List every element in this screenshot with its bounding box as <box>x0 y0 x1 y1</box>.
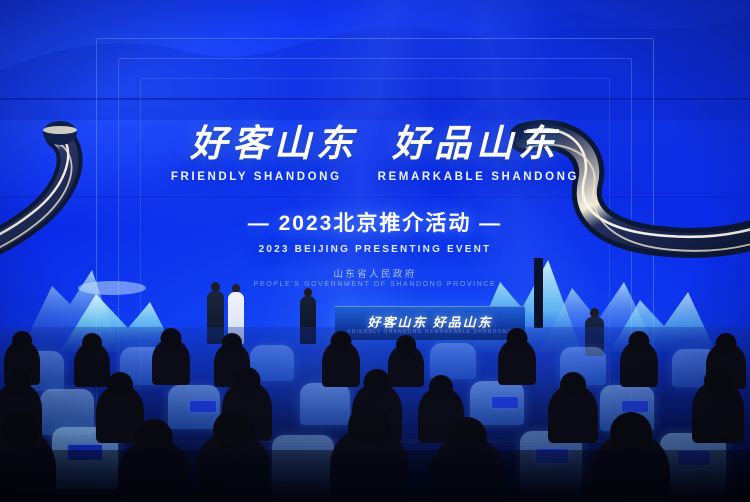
person-head <box>234 367 261 394</box>
organizer-cn: 山东省人民政府 <box>0 266 750 280</box>
person-head <box>610 412 652 454</box>
chair-placard <box>492 397 518 408</box>
person-head <box>629 331 650 352</box>
title-cn-right: 好品山东 <box>392 126 560 163</box>
chair <box>430 343 476 379</box>
person-head <box>5 370 31 396</box>
chair-placard <box>622 401 648 412</box>
main-title-cn: 好客山东 好品山东 <box>0 126 750 163</box>
subtitle-cn: — 2023北京推介活动 — <box>0 207 750 237</box>
audience-person <box>152 339 190 385</box>
person-head <box>107 372 133 398</box>
person-head <box>12 331 32 351</box>
person-head <box>429 375 453 399</box>
organizer-en: PEOPLE'S GOVERNMENT OF SHANDONG PROVINCE <box>0 281 750 288</box>
title-en-left: FRIENDLY SHANDONG <box>171 171 342 183</box>
stage-pillar <box>534 258 543 328</box>
person-head <box>716 333 737 354</box>
person-head <box>213 410 253 450</box>
audience-person <box>498 339 536 385</box>
person-head <box>704 367 732 395</box>
person-head <box>331 331 352 352</box>
title-en-right: REMARKABLE SHANDONG <box>378 171 579 183</box>
audience-foreground-shadow <box>0 450 750 502</box>
person-head <box>161 328 182 349</box>
main-title-en: FRIENDLY SHANDONG REMARKABLE SHANDONG <box>0 171 750 183</box>
chair-placard <box>190 401 216 412</box>
chair <box>300 383 350 425</box>
person-head <box>560 372 586 398</box>
screen-headline-block: 好客山东 好品山东 FRIENDLY SHANDONG REMARKABLE S… <box>0 126 750 255</box>
person-head <box>364 369 391 396</box>
person-head <box>348 405 390 447</box>
audience-person <box>692 381 744 443</box>
person-head <box>396 335 416 355</box>
audience-person <box>548 385 598 443</box>
subtitle-en: 2023 BEIJING PRESENTING EVENT <box>0 244 750 255</box>
audience-person <box>620 341 658 387</box>
person-head <box>222 333 242 353</box>
audience-person <box>388 345 424 387</box>
audience-area <box>0 327 750 502</box>
audience-person <box>322 341 360 387</box>
person-head <box>507 328 528 349</box>
audience-person <box>74 343 110 387</box>
title-cn-left: 好客山东 <box>190 126 358 163</box>
event-photo-scene: 好客山东 好品山东 FRIENDLY SHANDONG REMARKABLE S… <box>0 0 750 502</box>
person-head <box>2 411 40 449</box>
person-head <box>82 333 102 353</box>
